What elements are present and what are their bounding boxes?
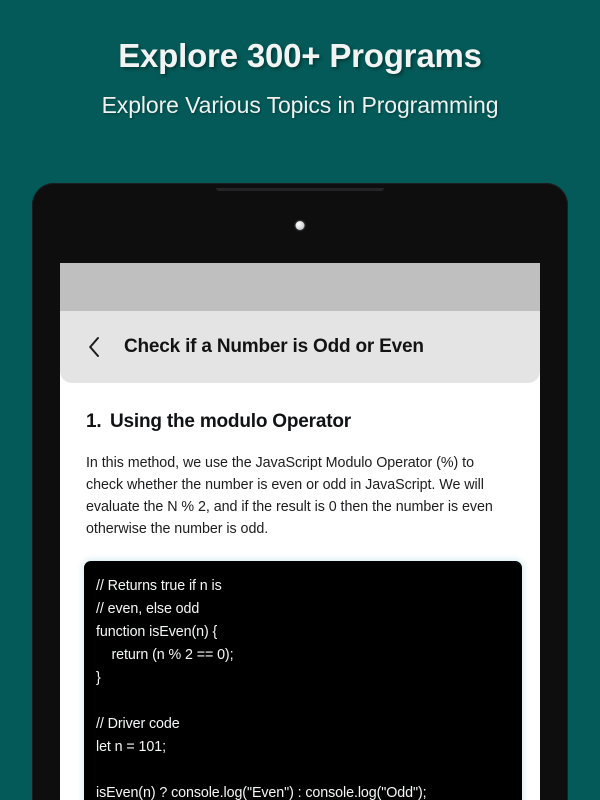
camera-dot-icon [296,221,305,230]
tablet-device-frame: Check if a Number is Odd or Even 1. Usin… [32,183,568,800]
code-line: // even, else odd [96,598,522,621]
promo-subtitle: Explore Various Topics in Programming [102,92,499,119]
page-title: Check if a Number is Odd or Even [124,336,424,358]
chevron-left-icon[interactable] [86,334,102,360]
code-line: } [96,667,522,690]
promo-title: Explore 300+ Programs [118,38,482,74]
tablet-screen: Check if a Number is Odd or Even 1. Usin… [60,263,540,800]
code-line: // Returns true if n is [96,575,522,598]
promo-banner: Explore 300+ Programs Explore Various To… [0,0,600,183]
section-heading: 1. Using the modulo Operator [86,411,514,433]
status-bar [60,263,540,311]
code-line: isEven(n) ? console.log("Even") : consol… [96,782,522,800]
section-title: Using the modulo Operator [110,411,351,433]
section-paragraph: In this method, we use the JavaScript Mo… [86,452,514,540]
article-body: 1. Using the modulo Operator In this met… [60,411,540,800]
speaker-slot-icon [216,188,384,191]
section-number: 1. [86,411,110,433]
code-line [96,690,522,713]
code-line [96,759,522,782]
code-line: return (n % 2 == 0); [96,644,522,667]
code-line: function isEven(n) { [96,621,522,644]
code-line: let n = 101; [96,736,522,759]
code-block[interactable]: // Returns true if n is // even, else od… [84,561,522,800]
code-line: // Driver code [96,713,522,736]
app-header: Check if a Number is Odd or Even [60,311,540,383]
